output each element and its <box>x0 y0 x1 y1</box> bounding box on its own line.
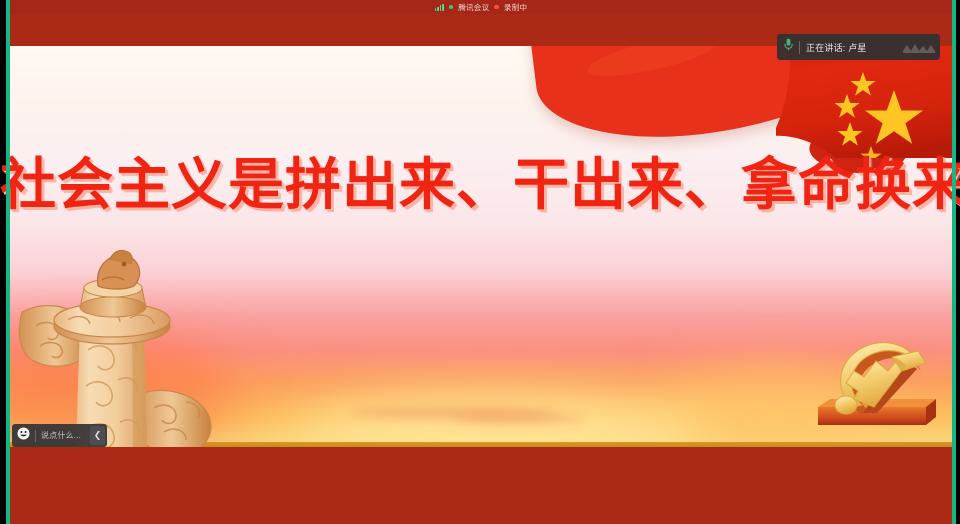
active-speaker-label: 正在讲话: 卢星 <box>806 41 867 54</box>
capture-border-left <box>6 0 10 524</box>
capture-border-right <box>952 0 956 524</box>
sunset-cloud-2 <box>453 414 585 423</box>
window-chrome-bottom <box>10 446 952 524</box>
meeting-status-bar: 腾讯会议 录制中 <box>10 0 952 14</box>
cpc-hammer-sickle-emblem-icon <box>802 321 942 433</box>
presentation-slide <box>10 46 952 447</box>
chat-input-placeholder[interactable]: 说点什么... <box>41 430 85 441</box>
active-speaker-overlay[interactable]: 正在讲话: 卢星 <box>777 34 940 60</box>
shared-screen-capture: 腾讯会议 录制中 <box>0 0 960 524</box>
china-national-flag-icon <box>776 46 952 158</box>
huabiao-ornamental-column-icon <box>14 246 224 447</box>
chevron-left-icon[interactable]: ❮ <box>90 426 105 445</box>
emoji-smiley-icon[interactable] <box>17 427 30 445</box>
slide-headline: 社会主义是拼出来、干出来、拿命换来的 <box>0 158 960 214</box>
audio-waveform-icon <box>902 40 936 54</box>
overlay-divider <box>799 41 800 54</box>
signal-bars-icon <box>435 4 444 11</box>
red-recording-dot <box>494 5 499 10</box>
chat-composer[interactable]: 说点什么... ❮ <box>12 424 107 447</box>
microphone-icon <box>784 38 793 56</box>
app-name-label: 腾讯会议 <box>458 2 489 13</box>
green-status-dot <box>449 5 454 10</box>
recording-status-label: 录制中 <box>504 2 527 13</box>
composer-divider <box>35 430 36 442</box>
